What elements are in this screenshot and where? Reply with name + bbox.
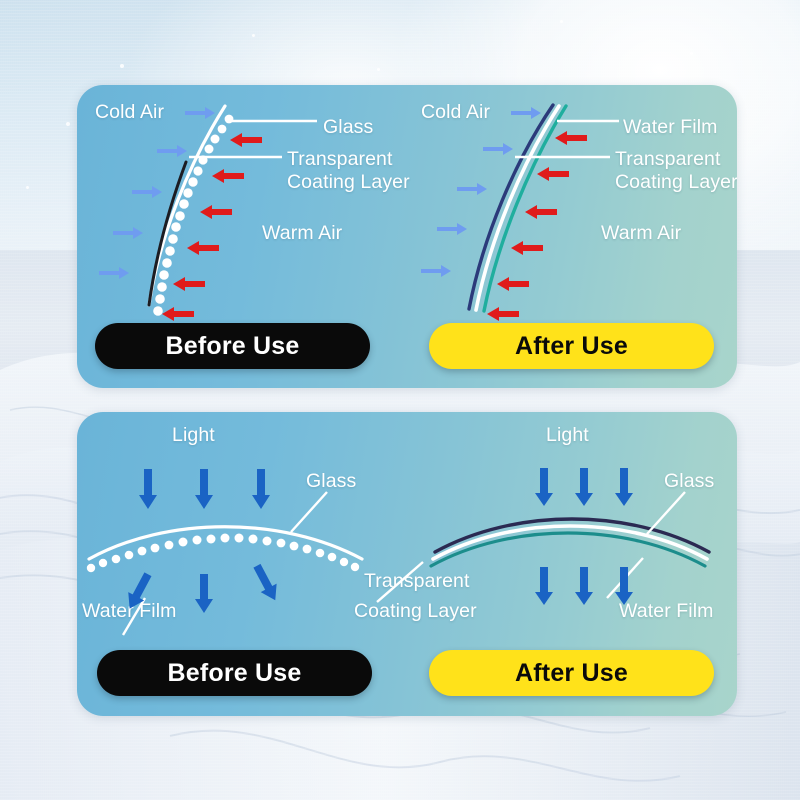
before-use-pill[interactable]: Before Use <box>97 650 372 696</box>
panel-light-transmission: Light Glass Water Film <box>77 412 737 716</box>
incoming-light-arrows <box>139 469 270 509</box>
incoming-light-arrows <box>535 468 633 506</box>
scattered-light-arrows <box>122 562 284 613</box>
before-use-pill-label: Before Use <box>166 332 300 361</box>
after-use-pill-label: After Use <box>515 659 628 688</box>
after-use-pill-label: After Use <box>515 332 628 361</box>
coating-layer-arc <box>431 533 705 566</box>
water-film-layer-arc <box>433 526 707 559</box>
panel-top-before: Cold Air Warm Air Glass Transparent Coat… <box>77 85 407 388</box>
panel-bottom-after: Light Glass Transparent Coating Layer Wa… <box>407 412 737 716</box>
leader-line-glass <box>291 492 327 532</box>
after-use-pill[interactable]: After Use <box>429 323 714 369</box>
coating-layer-line <box>484 106 566 311</box>
before-use-pill[interactable]: Before Use <box>95 323 370 369</box>
panel-bottom-before: Light Glass Water Film <box>77 412 407 716</box>
panel-anti-fog: Cold Air Warm Air Glass Transparent Coat… <box>77 85 737 388</box>
leader-line-glass <box>647 492 685 534</box>
after-use-pill[interactable]: After Use <box>429 650 714 696</box>
panel-top-after: Cold Air Warm Air Water Film Transparent… <box>407 85 737 388</box>
before-use-pill-label: Before Use <box>168 659 302 688</box>
